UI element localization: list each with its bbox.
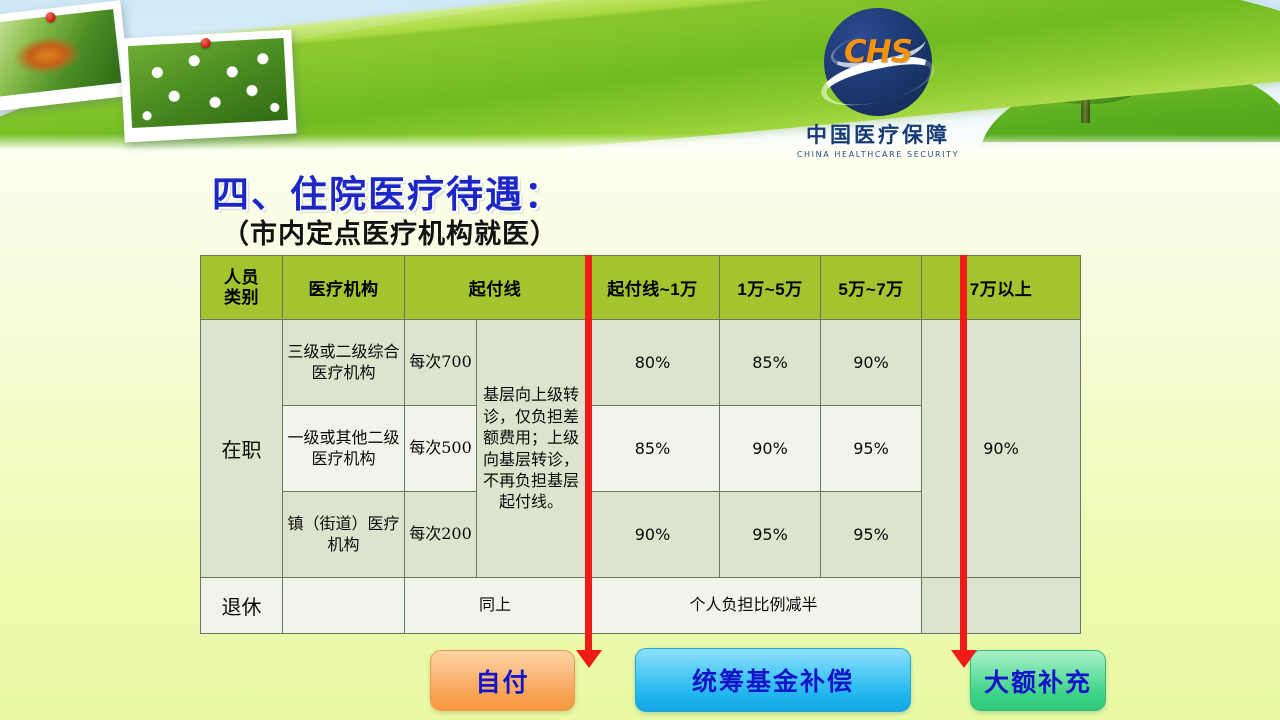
cell-institution: 镇（街道）医疗机构 <box>283 492 405 578</box>
col-header-category: 人员类别 <box>201 256 283 320</box>
cell-band4: 90% <box>922 320 1081 578</box>
page-subtitle: （市内定点医疗机构就医） <box>222 212 558 251</box>
table-header-row: 人员类别 医疗机构 起付线 起付线~1万 1万~5万 5万~7万 7万以上 <box>201 256 1081 320</box>
col-header-institution: 医疗机构 <box>283 256 405 320</box>
photo-insect-image <box>0 9 121 97</box>
photo-flowers-image <box>128 38 288 128</box>
cell-institution-retired <box>283 578 405 634</box>
col-header-deductible: 起付线 <box>405 256 586 320</box>
cell-band2: 95% <box>720 492 821 578</box>
cell-deductible-amount: 每次700 <box>405 320 477 406</box>
callout-pooled-fund[interactable]: 统筹基金补偿 <box>635 648 911 712</box>
table-row: 在职 三级或二级综合医疗机构 每次700 基层向上级转诊，仅负担差额费用；上级向… <box>201 320 1081 406</box>
callout-self-pay[interactable]: 自付 <box>430 650 575 711</box>
page-title: 四、住院医疗待遇： <box>212 164 563 218</box>
globe-icon: CHS <box>824 8 932 116</box>
cell-group-active: 在职 <box>201 320 283 578</box>
col-header-band1: 起付线~1万 <box>586 256 720 320</box>
cell-band4-retired <box>922 578 1081 634</box>
cell-institution: 一级或其他二级医疗机构 <box>283 406 405 492</box>
logo-chinese-name: 中国医疗保障 <box>778 119 978 149</box>
callout-large-supplement[interactable]: 大额补充 <box>970 650 1106 711</box>
benefits-table: 人员类别 医疗机构 起付线 起付线~1万 1万~5万 5万~7万 7万以上 在职… <box>200 255 1081 634</box>
logo-english-name: CHINA HEALTHCARE SECURITY <box>778 150 978 159</box>
col-header-band3: 5万~7万 <box>821 256 922 320</box>
divider-arrow-self-pay <box>585 255 592 651</box>
cell-bands-retired: 个人负担比例减半 <box>586 578 922 634</box>
cell-band1: 90% <box>586 492 720 578</box>
slide-canvas: CHS 中国医疗保障 CHINA HEALTHCARE SECURITY 四、住… <box>0 0 1280 720</box>
cell-band2: 90% <box>720 406 821 492</box>
cell-deductible-amount: 每次500 <box>405 406 477 492</box>
cell-band3: 95% <box>821 406 922 492</box>
cell-institution: 三级或二级综合医疗机构 <box>283 320 405 406</box>
col-header-band4: 7万以上 <box>922 256 1081 320</box>
cell-band2: 85% <box>720 320 821 406</box>
photo-insect <box>0 0 131 111</box>
cell-deductible-retired: 同上 <box>405 578 586 634</box>
cell-band3: 90% <box>821 320 922 406</box>
col-header-band2: 1万~5万 <box>720 256 821 320</box>
photo-flowers <box>119 30 296 143</box>
cell-referral-note: 基层向上级转诊，仅负担差额费用；上级向基层转诊，不再负担基层起付线。 <box>477 320 586 578</box>
divider-arrow-supplement <box>960 255 967 651</box>
cell-band1: 85% <box>586 406 720 492</box>
header-banner: CHS 中国医疗保障 CHINA HEALTHCARE SECURITY <box>0 0 1280 160</box>
arrow-head-icon <box>576 650 602 668</box>
logo-mark-text: CHS <box>824 34 932 70</box>
table-row: 退休 同上 个人负担比例减半 <box>201 578 1081 634</box>
arrow-head-icon <box>951 650 977 668</box>
cell-band3: 95% <box>821 492 922 578</box>
benefits-table-wrapper: 人员类别 医疗机构 起付线 起付线~1万 1万~5万 5万~7万 7万以上 在职… <box>200 255 1080 634</box>
chs-logo: CHS 中国医疗保障 CHINA HEALTHCARE SECURITY <box>778 8 978 154</box>
cell-group-retired: 退休 <box>201 578 283 634</box>
cell-deductible-amount: 每次200 <box>405 492 477 578</box>
cell-band1: 80% <box>586 320 720 406</box>
